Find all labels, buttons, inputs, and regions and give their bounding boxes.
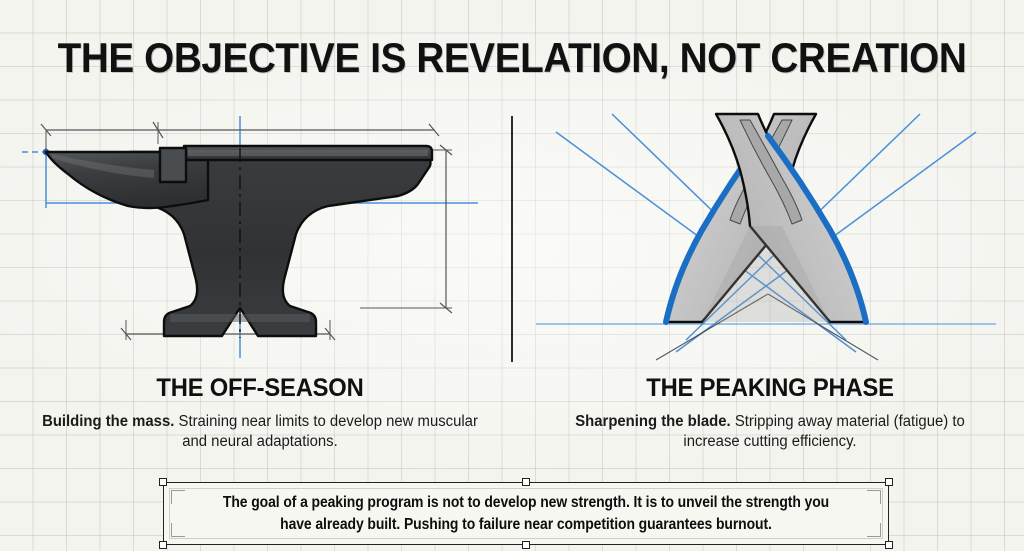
caption-body-peaking-phase: Sharpening the blade. Stripping away mat…: [549, 412, 991, 452]
selection-handle-bottom-right[interactable]: [885, 541, 893, 549]
caption-heading-off-season: THE OFF-SEASON: [42, 374, 479, 403]
caption-body-bold-peaking-phase: Sharpening the blade.: [575, 413, 730, 430]
page-title: THE OBJECTIVE IS REVELATION, NOT CREATIO…: [41, 34, 983, 82]
caption-body-bold-off-season: Building the mass.: [42, 413, 174, 430]
caption-peaking-phase: THE PEAKING PHASE Sharpening the blade. …: [540, 374, 1000, 452]
selection-handle-top-right[interactable]: [885, 478, 893, 486]
panel-divider: [511, 116, 513, 362]
anvil-blueprint-svg: [8, 108, 508, 368]
panel-peaking-illustration: [516, 108, 1016, 368]
caption-body-off-season: Building the mass. Straining near limits…: [39, 412, 481, 452]
selection-handle-top-center[interactable]: [522, 478, 530, 486]
caption-off-season: THE OFF-SEASON Building the mass. Strain…: [30, 374, 490, 452]
quote-line-1: The goal of a peaking program is not to …: [223, 494, 801, 511]
quote-text: The goal of a peaking program is not to …: [206, 492, 847, 535]
quote-callout-box: The goal of a peaking program is not to …: [163, 482, 889, 545]
selection-handle-top-left[interactable]: [159, 478, 167, 486]
panel-off-season-illustration: [8, 108, 508, 368]
caption-heading-peaking-phase: THE PEAKING PHASE: [552, 374, 989, 403]
quote-inner-frame: The goal of a peaking program is not to …: [169, 488, 883, 539]
caption-body-rest-off-season: Straining near limits to develop new mus…: [174, 413, 478, 450]
crossed-blades-blueprint-svg: [516, 108, 1016, 368]
selection-handle-bottom-left[interactable]: [159, 541, 167, 549]
selection-handle-bottom-center[interactable]: [522, 541, 530, 549]
